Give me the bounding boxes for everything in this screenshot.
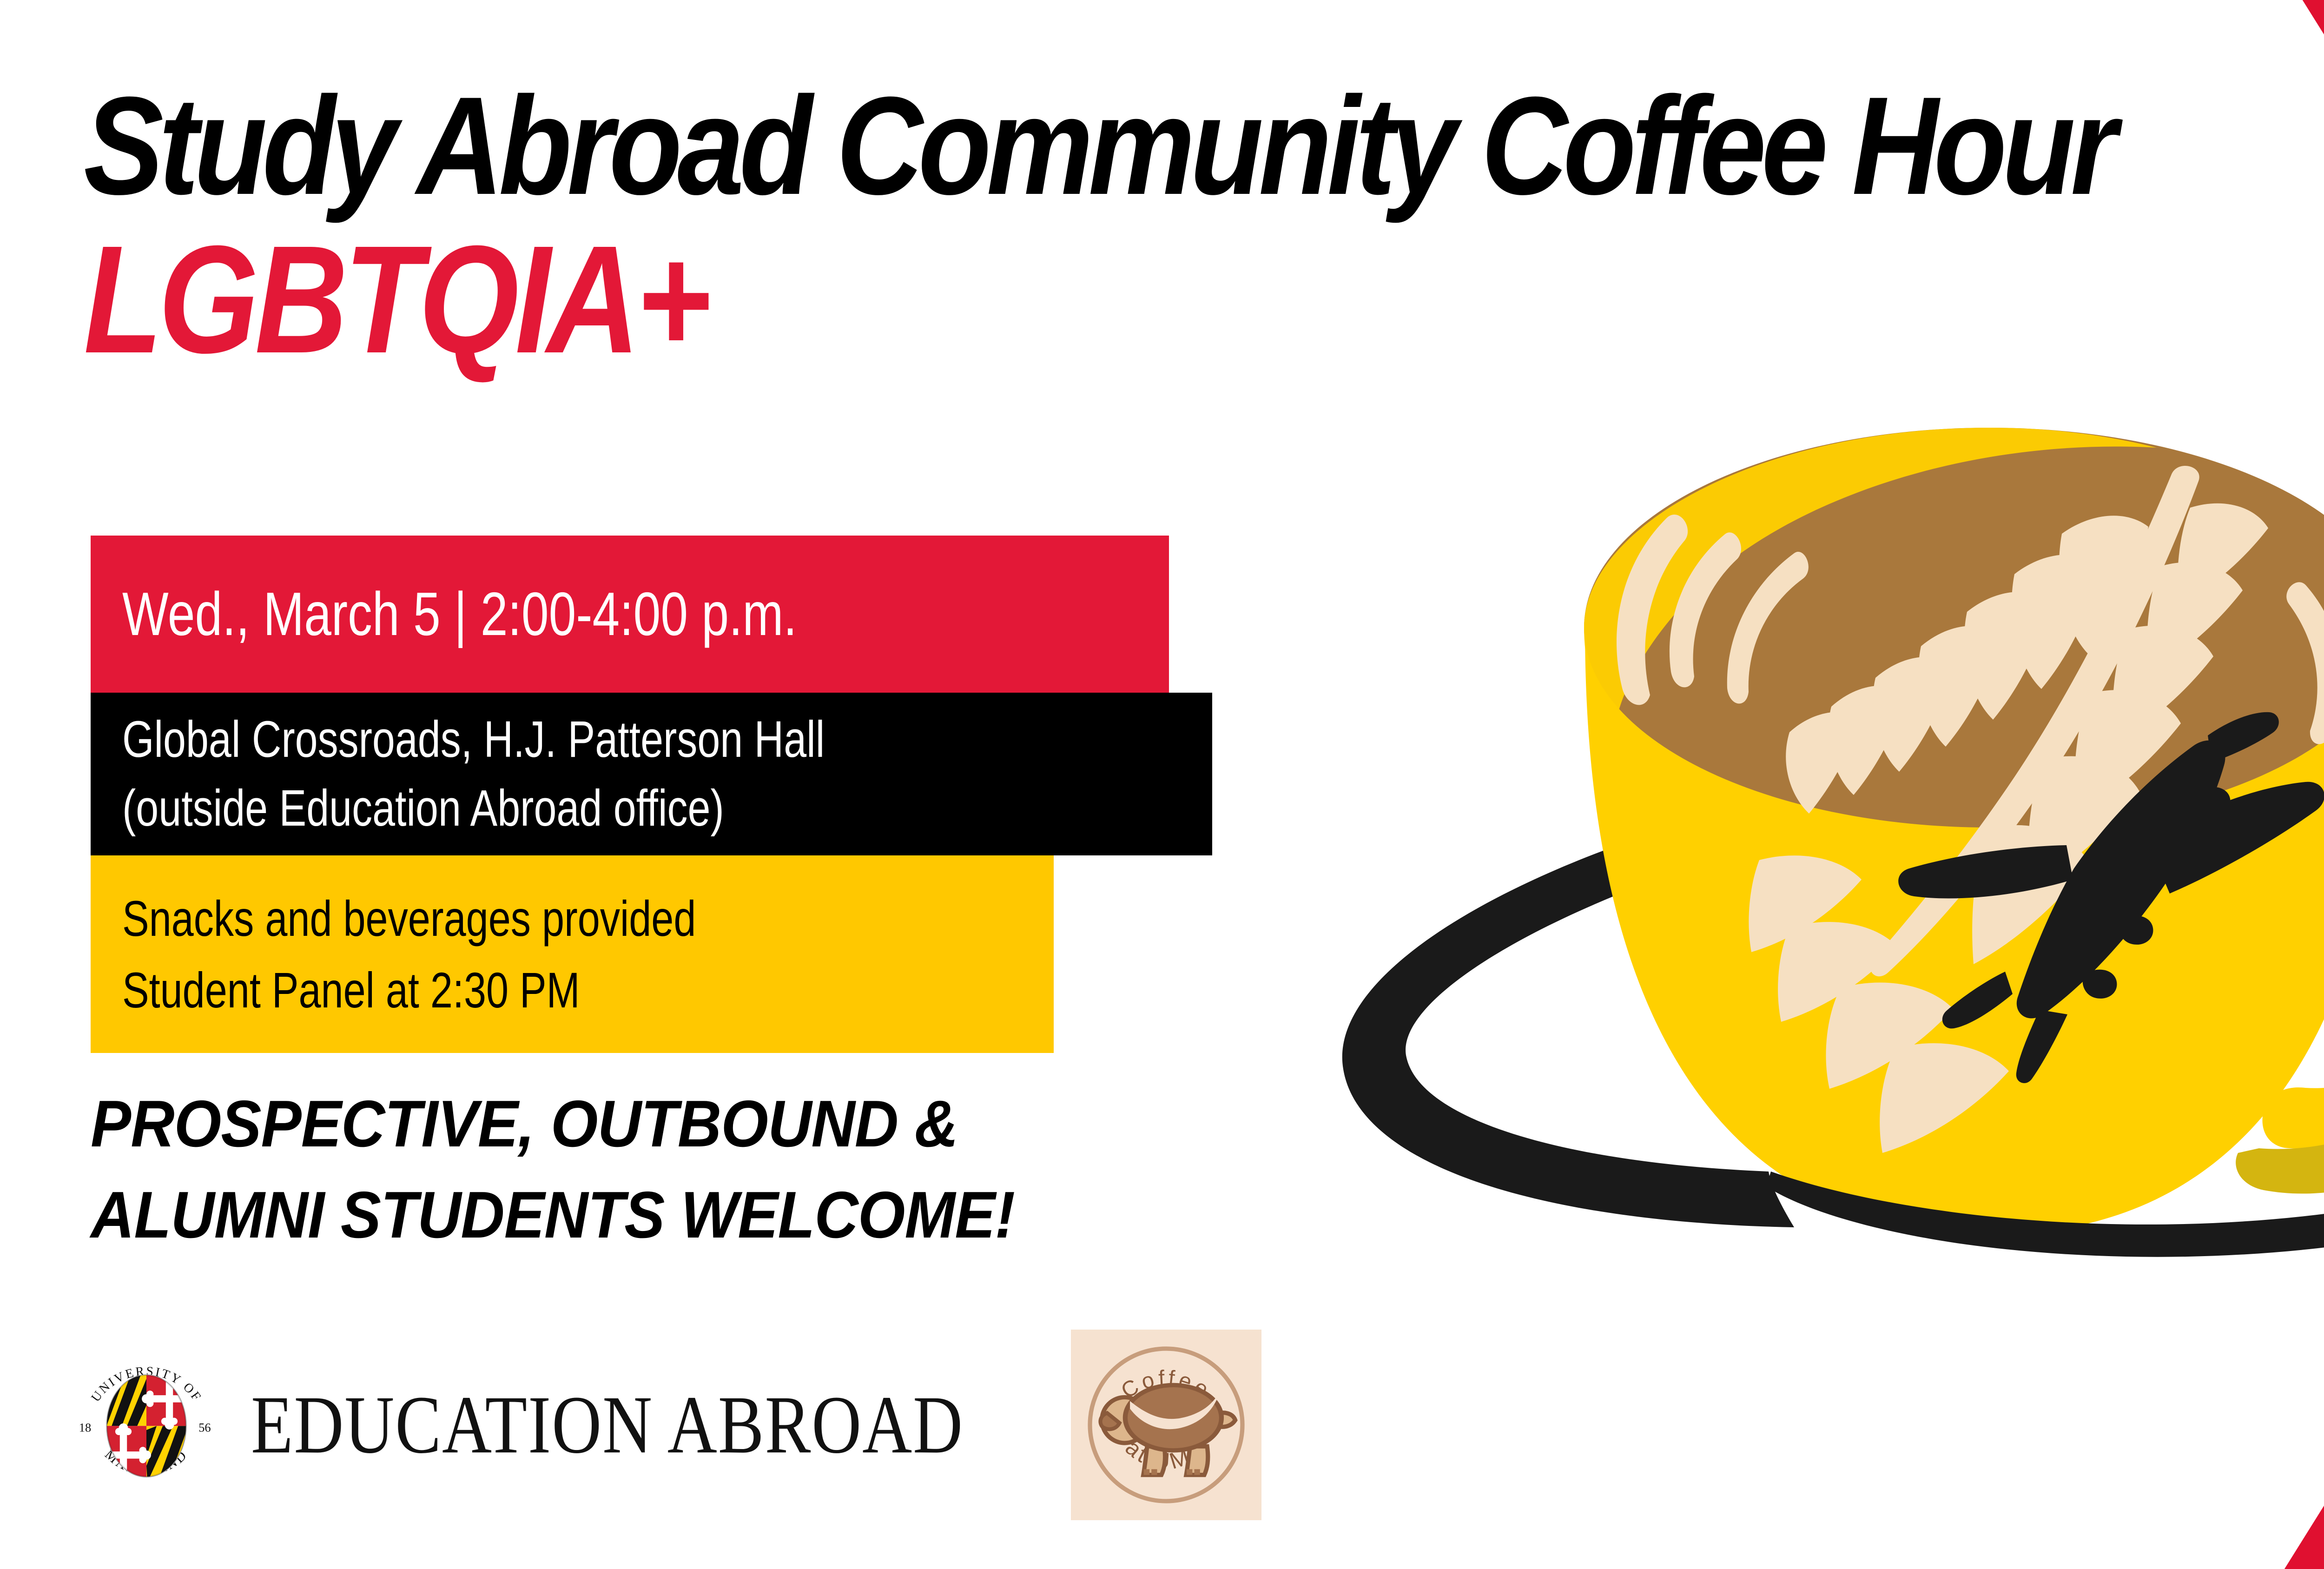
seal-year-left: 18	[79, 1420, 91, 1434]
welcome-line-2: ALUMNI STUDENTS WELCOME!	[91, 1170, 1202, 1261]
details-box: Snacks and beverages provided Student Pa…	[91, 855, 1054, 1053]
title-block: Study Abroad Community Coffee Hour LGBTQ…	[84, 81, 2222, 376]
details-line-1: Snacks and beverages provided	[122, 883, 696, 954]
location-box: Global Crossroads, H.J. Patterson Hall (…	[91, 693, 1212, 855]
umd-seal-logo: UNIVERSITY OF MARYLAND 18 56	[70, 1348, 223, 1502]
location-text: Global Crossroads, H.J. Patterson Hall (…	[91, 705, 825, 843]
coffee-cup-illustration	[1325, 386, 2324, 1269]
details-text: Snacks and beverages provided Student Pa…	[91, 883, 696, 1026]
page-subtitle: LGBTQIA+	[84, 223, 1880, 376]
page-title: Study Abroad Community Coffee Hour	[84, 81, 1922, 210]
location-line-1: Global Crossroads, H.J. Patterson Hall	[122, 705, 825, 775]
logo-row: UNIVERSITY OF MARYLAND 18 56	[70, 1330, 1261, 1520]
audience-welcome-text: PROSPECTIVE, OUTBOUND & ALUMNI STUDENTS …	[91, 1079, 1202, 1261]
details-line-2: Student Panel at 2:30 PM	[122, 954, 696, 1026]
coffee-at-umd-logo: Coffee at UMD	[1071, 1330, 1261, 1520]
turtle-shell-coffee-bean	[1122, 1383, 1223, 1453]
location-line-2: (outside Education Abroad office)	[122, 774, 825, 843]
education-abroad-wordmark: EDUCATION ABROAD	[251, 1377, 964, 1472]
date-time-box: Wed., March 5 | 2:00-4:00 p.m.	[91, 536, 1169, 693]
seal-year-right: 56	[198, 1420, 211, 1434]
date-time-text: Wed., March 5 | 2:00-4:00 p.m.	[91, 580, 797, 649]
welcome-line-1: PROSPECTIVE, OUTBOUND &	[91, 1079, 1202, 1170]
poster-canvas: Study Abroad Community Coffee Hour LGBTQ…	[0, 0, 2324, 1569]
